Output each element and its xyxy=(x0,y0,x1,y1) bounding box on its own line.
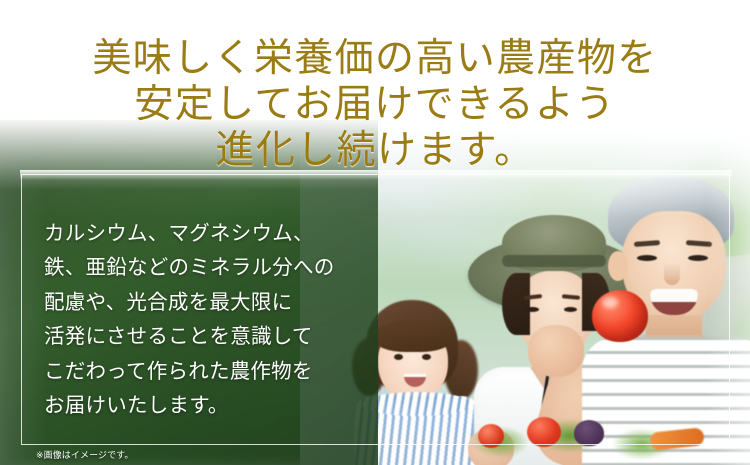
body-copy: カルシウム、マグネシウム、 鉄、亜鉛などのミネラル分への 配慮や、光合成を最大限… xyxy=(44,217,362,424)
sun-hat-band xyxy=(502,255,606,267)
small-tomato-icon xyxy=(527,417,561,447)
child-eye-right xyxy=(422,354,431,360)
child-bangs xyxy=(374,320,452,352)
grandfather-hand xyxy=(528,325,584,377)
grandfather-ear xyxy=(608,251,628,281)
page-title: 美味しく栄養価の高い農産物を 安定してお届けできるよう 進化し続けます。 xyxy=(0,36,750,174)
child-dress-collar xyxy=(362,392,472,416)
image-disclaimer-note: ※画像はイメージです。 xyxy=(36,449,133,461)
grandfather-nose xyxy=(664,263,680,285)
eggplant-icon xyxy=(574,420,604,446)
small-tomato-secondary-icon xyxy=(478,424,504,448)
mother-hair-left xyxy=(502,273,530,335)
tomato-icon xyxy=(592,290,648,342)
grandfather-eye-right xyxy=(688,255,708,261)
grandfather-teeth xyxy=(650,289,698,302)
promo-banner: 美味しく栄養価の高い農産物を 安定してお届けできるよう 進化し続けます。 カルシ… xyxy=(0,0,750,465)
grandfather-eye-left xyxy=(637,255,657,261)
tomato-highlight xyxy=(602,297,618,308)
child-eye-left xyxy=(394,354,403,360)
mother-eye-right xyxy=(564,307,577,312)
mother-eye-left xyxy=(526,307,539,312)
